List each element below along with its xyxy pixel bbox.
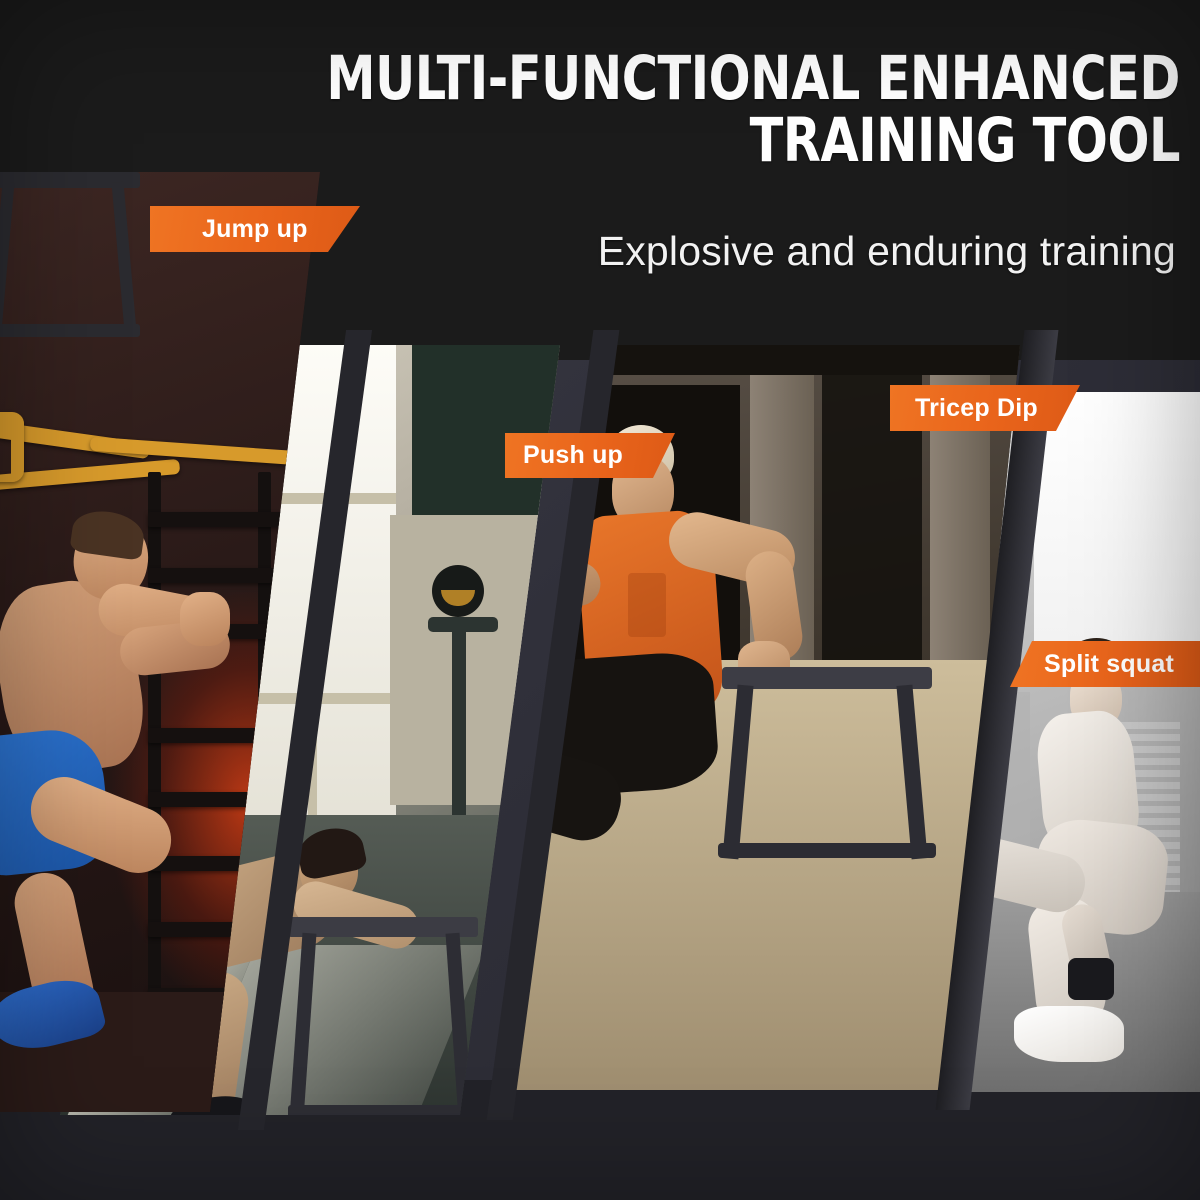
jersey-number xyxy=(628,573,666,637)
label-text: Push up xyxy=(523,443,623,468)
window xyxy=(1034,392,1200,642)
athlete-hands xyxy=(180,592,230,646)
product-poster: Jump up Push up Tricep Dip Split squat M… xyxy=(0,0,1200,1200)
label-text: Tricep Dip xyxy=(915,396,1038,421)
cable-machine-arm xyxy=(428,617,498,632)
dark-wall xyxy=(412,345,560,515)
plyo-box xyxy=(722,667,932,857)
athlete-shoe xyxy=(1014,1006,1124,1062)
yellow-frame xyxy=(0,412,24,482)
label-jump-up[interactable]: Jump up xyxy=(150,206,360,252)
label-split-squat[interactable]: Split squat xyxy=(1010,641,1200,687)
dumbbell xyxy=(1068,958,1114,1000)
plyo-box xyxy=(288,917,478,1115)
label-tricep-dip[interactable]: Tricep Dip xyxy=(890,385,1080,431)
label-push-up[interactable]: Push up xyxy=(505,433,675,478)
label-text: Split squat xyxy=(1044,652,1174,677)
label-text: Jump up xyxy=(202,217,308,242)
